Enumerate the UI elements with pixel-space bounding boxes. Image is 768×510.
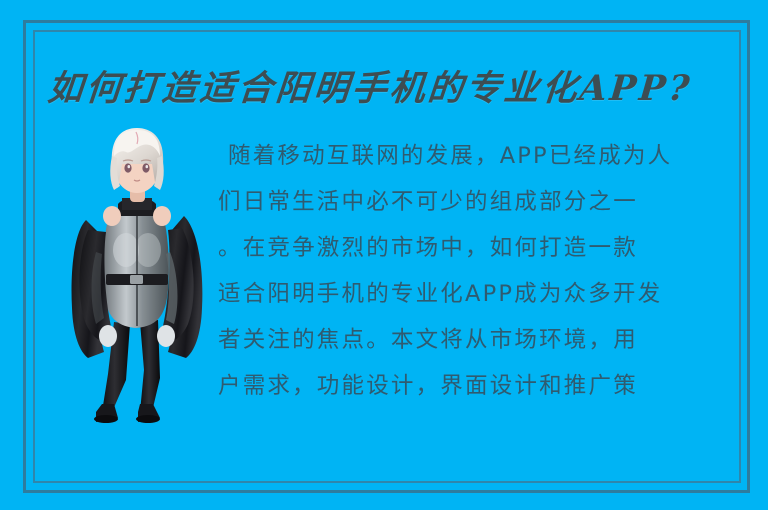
body-text-line: 户需求，功能设计，界面设计和推广策 — [218, 363, 742, 409]
anime-woman-character-illustration — [52, 112, 222, 427]
body-text-line: 适合阳明手机的专业化APP成为众多开发 — [218, 271, 742, 317]
body-text-line: 们日常生活中必不可少的组成部分之一 — [218, 179, 742, 225]
body-text-line: 。在竞争激烈的市场中，如何打造一款 — [218, 225, 742, 271]
body-text: 随着移动互联网的发展，APP已经成为人 们日常生活中必不可少的组成部分之一 。在… — [218, 133, 742, 423]
body-text-line: 随着移动互联网的发展，APP已经成为人 — [218, 133, 742, 179]
banner-title: 如何打造适合阳明手机的专业化APP? — [46, 60, 711, 112]
body-text-line: 者关注的焦点。本文将从市场环境，用 — [218, 317, 742, 363]
article-banner: 如何打造适合阳明手机的专业化APP? — [0, 0, 768, 510]
